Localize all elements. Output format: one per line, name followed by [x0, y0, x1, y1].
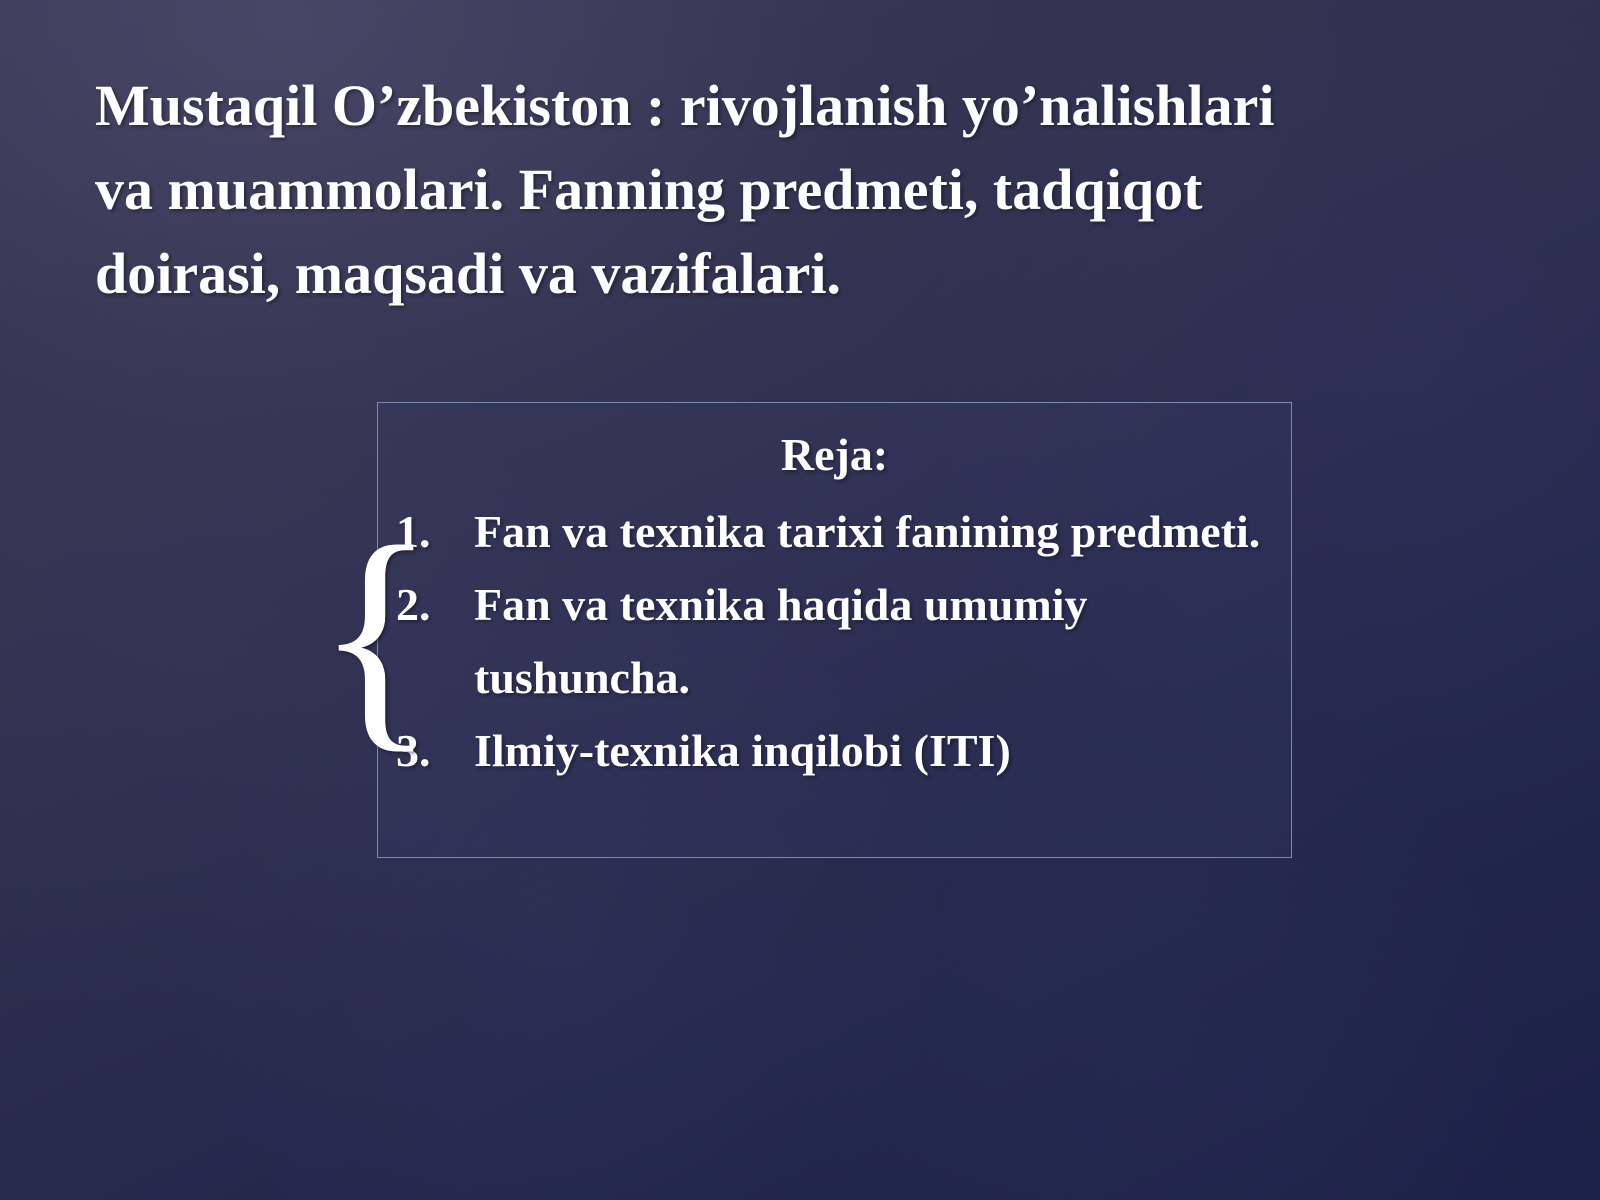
list-item-label: Fan va texnika haqida umumiy tushuncha. — [474, 568, 1276, 714]
list-item: 3. Ilmiy-texnika inqilobi (ITI) — [396, 714, 1276, 787]
reja-list: 1. Fan va texnika tarixi fanining predme… — [396, 495, 1276, 787]
list-item-label: Ilmiy-texnika inqilobi (ITI) — [474, 714, 1276, 787]
reja-content-box: Reja: 1. Fan va texnika tarixi fanining … — [377, 402, 1292, 858]
list-item: 1. Fan va texnika tarixi fanining predme… — [396, 495, 1276, 568]
list-item: 2. Fan va texnika haqida umumiy tushunch… — [396, 568, 1276, 714]
slide-canvas: Mustaqil O’zbekiston : rivojlanish yo’na… — [0, 0, 1600, 1200]
list-item-label: Fan va texnika tarixi fanining predmeti. — [474, 495, 1276, 568]
reja-heading: Reja: — [378, 427, 1291, 483]
page-title: Mustaqil O’zbekiston : rivojlanish yo’na… — [95, 64, 1275, 316]
curly-brace-icon: { — [316, 505, 388, 765]
